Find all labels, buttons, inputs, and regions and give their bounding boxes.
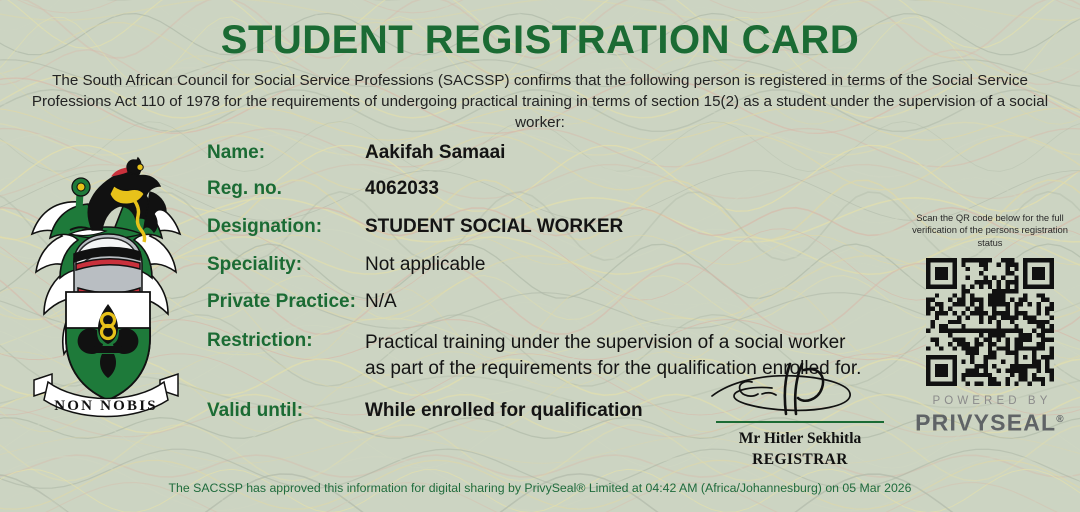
field-label-restriction: Restriction: xyxy=(207,330,313,352)
field-value-name: Aakifah Samaai xyxy=(365,142,505,164)
qr-code-icon[interactable] xyxy=(926,258,1054,386)
student-registration-card: STUDENT REGISTRATION CARD The South Afri… xyxy=(0,0,1080,512)
field-label-reg-no: Reg. no. xyxy=(207,178,282,200)
field-value-valid-until: While enrolled for qualification xyxy=(365,400,643,422)
powered-by-label: POWERED BY xyxy=(912,395,1068,407)
approval-footer: The SACSSP has approved this information… xyxy=(0,481,1080,495)
qr-instruction-text: Scan the QR code below for the full veri… xyxy=(912,212,1068,249)
field-value-private-practice: N/A xyxy=(365,291,397,313)
field-label-valid-until: Valid until: xyxy=(207,400,303,422)
registered-trademark-icon: ® xyxy=(1056,414,1065,425)
field-label-designation: Designation: xyxy=(207,216,322,238)
field-value-designation: STUDENT SOCIAL WORKER xyxy=(365,216,623,238)
registrar-role: REGISTRAR xyxy=(700,449,900,470)
signature-line xyxy=(716,421,884,423)
privyseal-brand-text: PRIVYSEAL xyxy=(915,410,1056,436)
qr-verification-panel: Scan the QR code below for the full veri… xyxy=(912,212,1068,436)
field-row-designation: Designation: STUDENT SOCIAL WORKER xyxy=(207,216,907,254)
field-label-name: Name: xyxy=(207,142,265,164)
coat-of-arms-icon: NON NOBIS xyxy=(18,142,194,422)
field-row-reg-no: Reg. no. 4062033 xyxy=(207,178,907,216)
signature-block: Mr Hitler Sekhitla REGISTRAR xyxy=(700,360,900,470)
field-row-speciality: Speciality: Not applicable xyxy=(207,254,907,291)
field-label-private-practice: Private Practice: xyxy=(207,291,356,313)
field-value-reg-no: 4062033 xyxy=(365,178,439,200)
svg-text:NON NOBIS: NON NOBIS xyxy=(54,398,158,414)
field-label-speciality: Speciality: xyxy=(207,254,302,276)
page-title: STUDENT REGISTRATION CARD xyxy=(0,18,1080,63)
privyseal-brand: PRIVYSEAL® xyxy=(912,407,1068,436)
registrar-name: Mr Hitler Sekhitla xyxy=(700,428,900,449)
field-row-private-practice: Private Practice: N/A xyxy=(207,291,907,330)
field-value-speciality: Not applicable xyxy=(365,254,485,276)
handwritten-signature-icon xyxy=(700,360,900,416)
intro-paragraph: The South African Council for Social Ser… xyxy=(28,70,1052,133)
field-row-name: Name: Aakifah Samaai xyxy=(207,142,907,178)
